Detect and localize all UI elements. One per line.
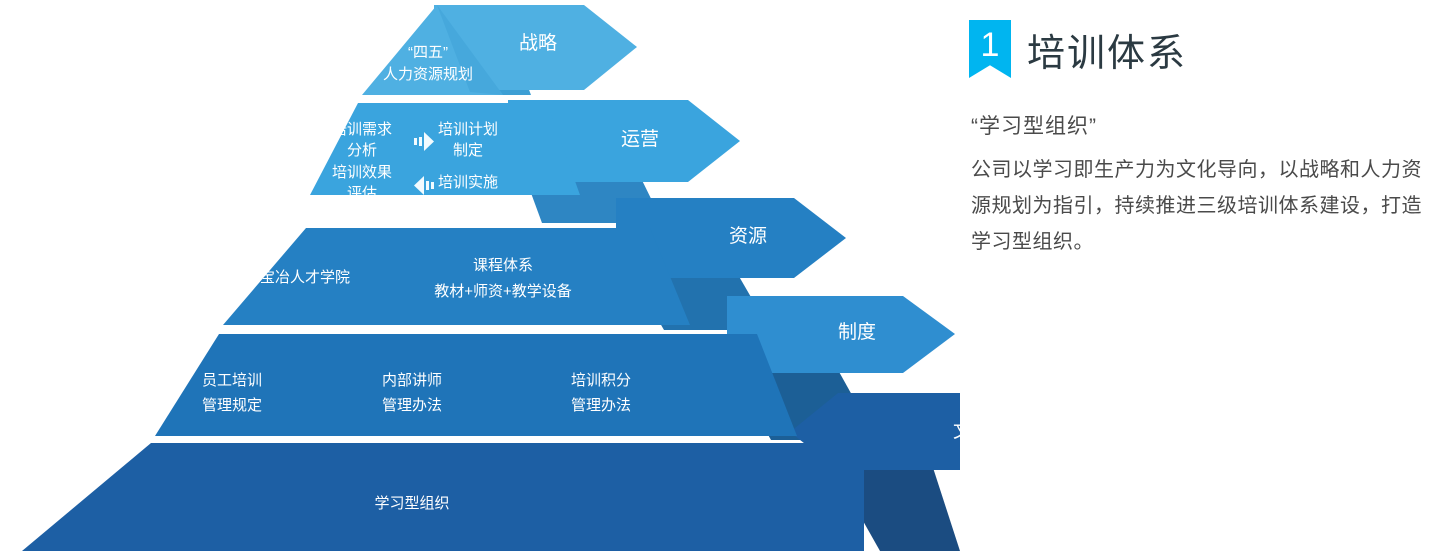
tier-operation-cell-3-line-0: 培训实施 bbox=[438, 174, 498, 191]
tier-resource-cell-0-line-0: 宝冶人才学院 bbox=[260, 268, 350, 286]
chevron-operation-label: 运营 bbox=[621, 128, 659, 150]
panel-body-text: 公司以学习即生产力为文化导向，以战略和人力资源规划为指引，持续推进三级培训体系建… bbox=[971, 152, 1431, 260]
pyramid-diagram: 战略 运营 资源 制度 文化 “四五” 人力资源规划 培训需求 bbox=[0, 0, 960, 555]
tier-resource-cell-1-line-0: 课程体系 bbox=[473, 257, 533, 274]
tier-operation-cell-2-line-1: 评估 bbox=[347, 185, 377, 202]
tier-operation[interactable]: 培训需求 分析 培训计划 制定 培训效果 评估 培训实施 bbox=[310, 103, 580, 202]
chevron-system-label: 制度 bbox=[838, 321, 876, 343]
tier-operation-cell-2-line-0: 培训效果 bbox=[332, 164, 392, 181]
panel-header: 1 培训体系 bbox=[969, 20, 1187, 78]
tier-system-cell-0-line-0: 员工培训 bbox=[202, 372, 262, 389]
tier-operation-cell-1-line-0: 培训计划 bbox=[438, 121, 498, 138]
tier-resource-cell-1-line-1: 教材+师资+教学设备 bbox=[434, 283, 572, 300]
tier-system[interactable]: 员工培训 管理规定 内部讲师 管理办法 培训积分 管理办法 bbox=[155, 334, 797, 436]
tier-culture-cell-0-line-0: 学习型组织 bbox=[374, 495, 449, 512]
panel-subtitle: “学习型组织” bbox=[971, 110, 1097, 140]
tier-system-cell-1-line-0: 内部讲师 bbox=[382, 372, 442, 389]
chevron-strategy-label: 战略 bbox=[519, 32, 557, 54]
chevron-resource-label: 资源 bbox=[729, 225, 767, 247]
tier-operation-cell-0-line-0: 培训需求 bbox=[332, 121, 392, 138]
page-title: 培训体系 bbox=[1027, 22, 1187, 77]
tier-system-cell-2-line-1: 管理办法 bbox=[571, 397, 631, 414]
section-number-badge: 1 bbox=[969, 20, 1011, 78]
chevron-culture-label: 文化 bbox=[953, 420, 960, 442]
text-panel: 1 培训体系 “学习型组织” 公司以学习即生产力为文化导向，以战略和人力资源规划… bbox=[963, 0, 1434, 555]
tier-system-cell-1-line-1: 管理办法 bbox=[382, 397, 442, 414]
tier-culture[interactable]: 学习型组织 bbox=[22, 443, 864, 551]
tier-strategy-cell-0-line-0: “四五” bbox=[408, 44, 448, 61]
section-number: 1 bbox=[981, 20, 1000, 62]
tier-system-cell-0-line-1: 管理规定 bbox=[202, 397, 262, 414]
tier-strategy-cell-0-line-1: 人力资源规划 bbox=[383, 66, 473, 83]
tier-operation-cell-0-line-1: 分析 bbox=[347, 142, 377, 159]
tier-resource[interactable]: 宝冶人才学院 课程体系 教材+师资+教学设备 bbox=[223, 228, 690, 325]
tier-system-cell-2-line-0: 培训积分 bbox=[571, 372, 631, 389]
tier-operation-cell-1-line-1: 制定 bbox=[453, 142, 483, 159]
infographic-slide: 战略 运营 资源 制度 文化 “四五” 人力资源规划 培训需求 bbox=[0, 0, 1434, 555]
